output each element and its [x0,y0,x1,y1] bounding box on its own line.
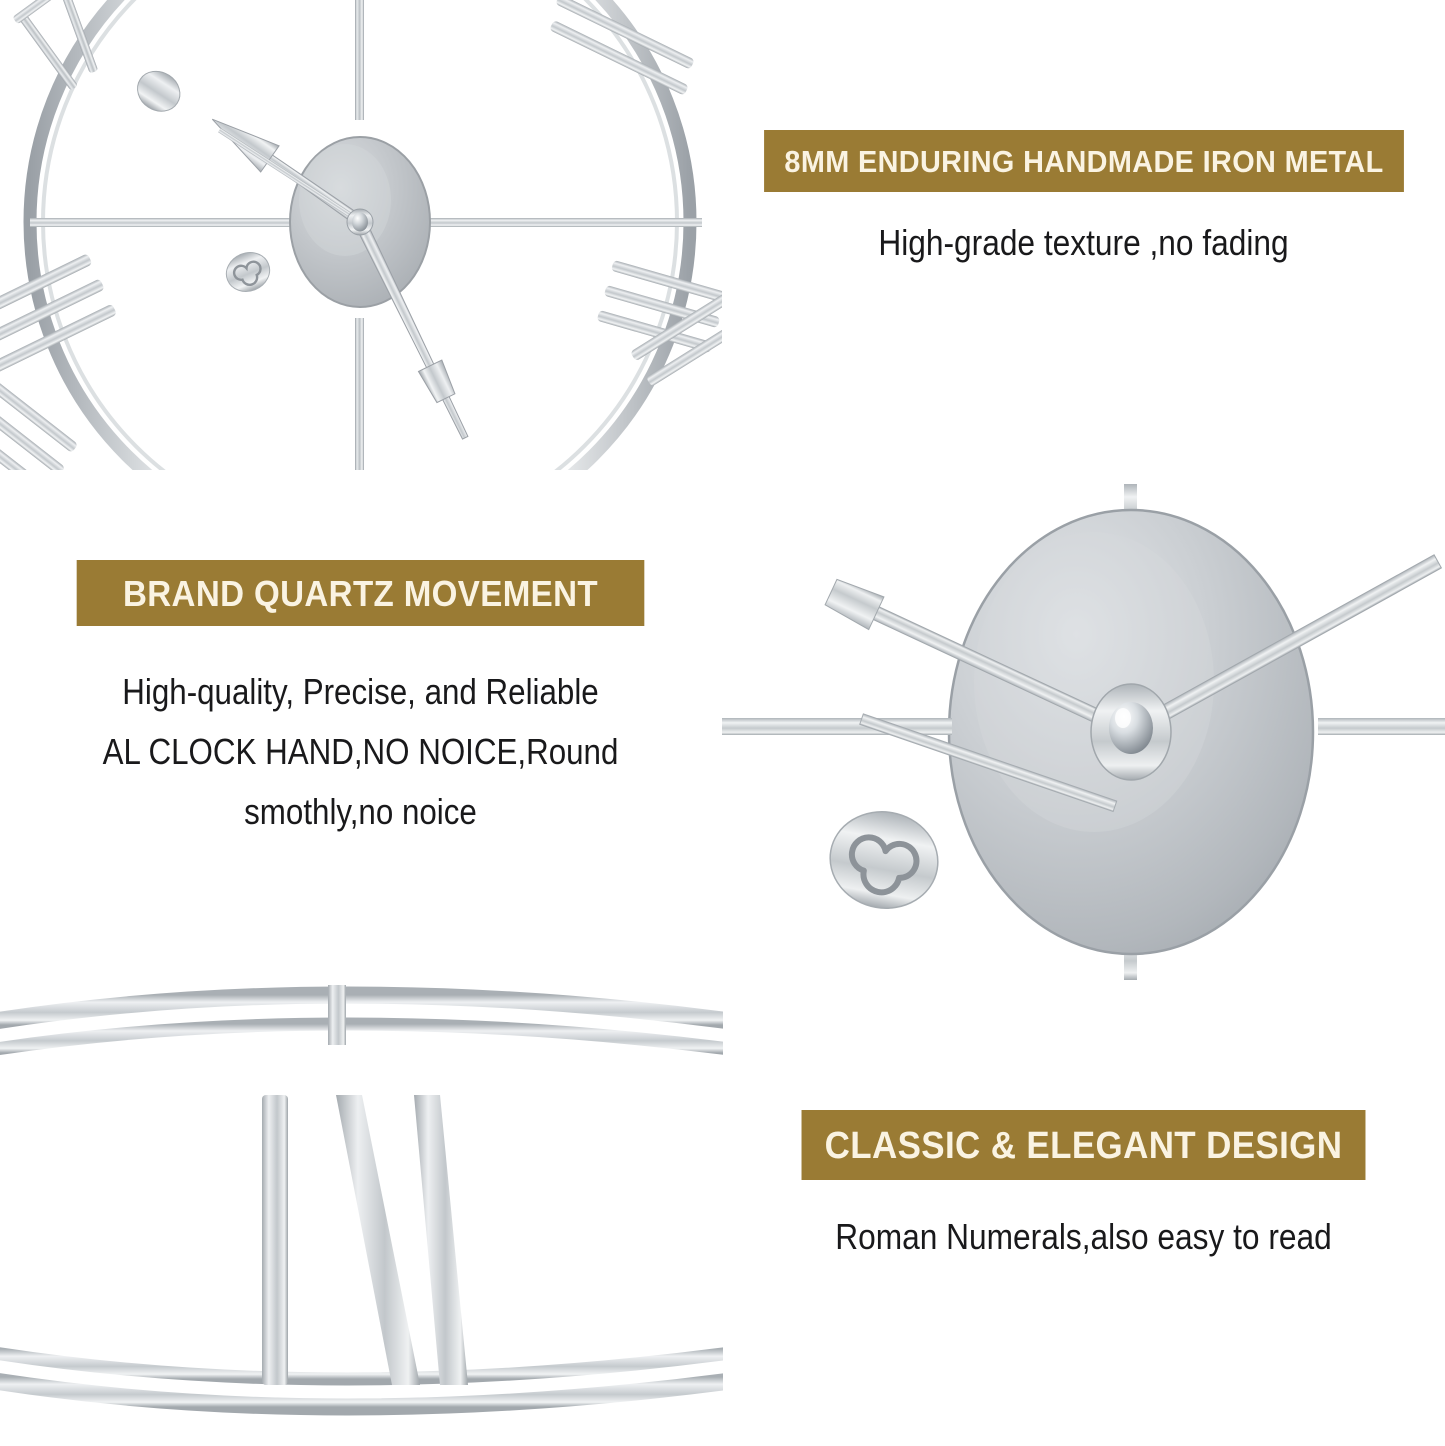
numeral-illustration [0,985,723,1446]
caption-line: smothly,no noice [71,782,650,842]
center-pin [352,213,368,232]
feature-banner-metal: 8MM ENDURING HANDMADE IRON METAL [764,130,1404,192]
center-pin [1109,702,1153,754]
clock-face-closeup-photo [0,0,722,470]
caption-line: High-grade texture ,no fading [765,220,1401,266]
feature-caption-design: Roman Numerals,also easy to read [722,1214,1445,1260]
roman-numeral-closeup-photo [0,985,723,1446]
caption-line: AL CLOCK HAND,NO NOICE,Round [71,722,650,782]
movement-illustration [722,470,1445,990]
infographic-sheet: 8MM ENDURING HANDMADE IRON METAL High-gr… [0,0,1445,1446]
spoke-vertical [328,985,346,1045]
clock-face-illustration [0,0,722,470]
feature-banner-design: CLASSIC & ELEGANT DESIGN [802,1110,1366,1180]
feature-caption-quartz: High-quality, Precise, and Reliable AL C… [28,662,693,842]
feature-caption-metal: High-grade texture ,no fading [722,220,1445,266]
caption-line: High-quality, Precise, and Reliable [71,662,650,722]
spoke-right [1318,718,1445,735]
feature-block-design: CLASSIC & ELEGANT DESIGN Roman Numerals,… [722,1110,1445,1260]
caption-line: Roman Numerals,also easy to read [765,1214,1401,1260]
feature-block-metal: 8MM ENDURING HANDMADE IRON METAL High-gr… [722,130,1445,266]
feature-block-quartz: BRAND QUARTZ MOVEMENT High-quality, Prec… [28,560,693,842]
quartz-movement-closeup-photo [722,470,1445,990]
feature-banner-quartz: BRAND QUARTZ MOVEMENT [77,560,645,626]
numeral-stroke-i [262,1095,288,1385]
